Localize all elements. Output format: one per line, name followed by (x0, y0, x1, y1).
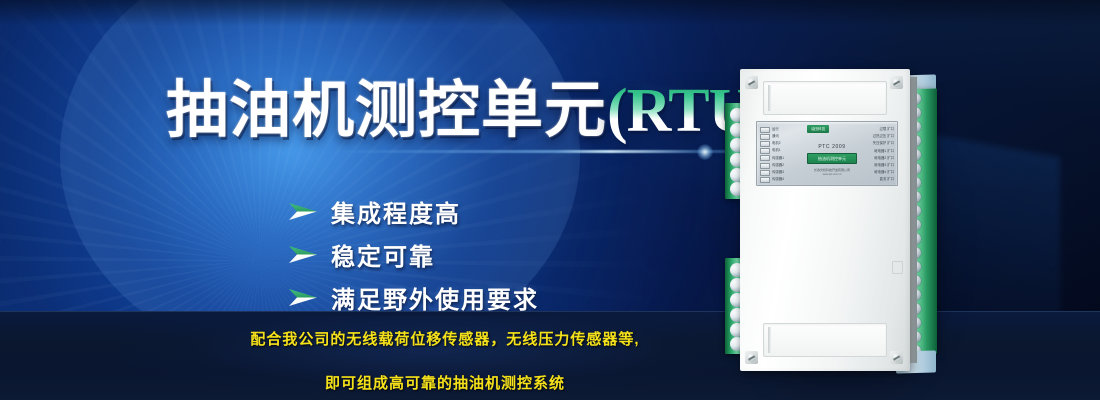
terminal-label: 直流 扩口 (850, 176, 894, 183)
list-item: 稳定可靠 (288, 233, 539, 275)
led-icon (760, 155, 770, 161)
led-indicator: 传感器1 (760, 155, 804, 162)
page-title-cn: 抽油机测控单元 (166, 76, 607, 145)
led-indicator: 传感器4 (760, 176, 804, 183)
arrow-right-icon (288, 202, 318, 221)
list-item-label: 集成程度高 (331, 194, 461, 229)
device-lcd-text: 抽油机测控单元 (808, 154, 856, 163)
device-slot-bottom (763, 323, 887, 357)
led-indicator: 通讯 (760, 133, 804, 140)
led-indicator: 传感器2 (760, 162, 804, 169)
led-icon (760, 134, 770, 140)
feature-list: 集成程度高 稳定可靠 满足野外使用要求 (288, 190, 539, 319)
device-label-panel: 运行 通讯 电机2 电机1 (756, 121, 898, 186)
led-label: 传感器1 (772, 157, 784, 160)
led-icon (760, 127, 770, 133)
corner-screw (745, 76, 758, 89)
terminal-label: 继电器4 扩口 (850, 169, 894, 176)
led-indicator: 电机2 (760, 140, 804, 147)
led-label: 通讯 (772, 135, 779, 138)
led-label: 传感器3 (772, 171, 784, 174)
product-banner: 抽油机测控单元(RTU) 集成程度高 稳定可靠 满足野外使用要求 (0, 0, 1100, 400)
terminal-label: 继电器3 扩口 (850, 162, 894, 169)
terminal-label: 失压保护 扩口 (850, 140, 894, 147)
led-icon (760, 148, 770, 154)
terminal-label-column: 过载 扩口 过热过压 扩口 失压保护 扩口 继电器1 扩口 继电器2 扩口 继电… (850, 126, 894, 184)
led-label: 电机2 (772, 142, 781, 145)
terminal-label: 继电器2 扩口 (850, 155, 894, 162)
led-label: 运行 (772, 128, 779, 131)
led-indicator: 运行 (760, 126, 804, 133)
background-top-vignette (0, 0, 1100, 26)
led-icon (760, 170, 770, 176)
product-image: 运行 通讯 电机2 电机1 (700, 55, 1030, 400)
corner-screw (745, 351, 758, 364)
list-item-label: 满足野外使用要求 (331, 280, 539, 315)
led-icon (760, 177, 770, 183)
led-indicator: 传感器3 (760, 169, 804, 176)
terminal-label: 过载 扩口 (850, 126, 894, 133)
led-indicator-column: 运行 通讯 电机2 电机1 (760, 126, 804, 184)
corner-screw (890, 76, 903, 89)
device-enclosure: 运行 通讯 电机2 电机1 (740, 69, 910, 371)
device-marking (892, 261, 903, 274)
corner-screw (890, 351, 903, 364)
led-icon (760, 163, 770, 169)
led-label: 传感器2 (772, 164, 784, 167)
device-slot-top (763, 81, 887, 115)
led-label: 传感器4 (772, 178, 784, 181)
terminal-label: 过热过压 扩口 (850, 133, 894, 140)
led-icon (760, 141, 770, 147)
arrow-right-icon (288, 245, 318, 264)
terminal-label: 继电器1 扩口 (850, 148, 894, 155)
list-item-label: 稳定可靠 (331, 237, 435, 272)
led-label: 电机1 (772, 149, 781, 152)
page-title: 抽油机测控单元(RTU) (166, 80, 772, 142)
led-indicator: 电机1 (760, 148, 804, 155)
arrow-right-icon (288, 288, 318, 307)
list-item: 集成程度高 (288, 190, 539, 232)
